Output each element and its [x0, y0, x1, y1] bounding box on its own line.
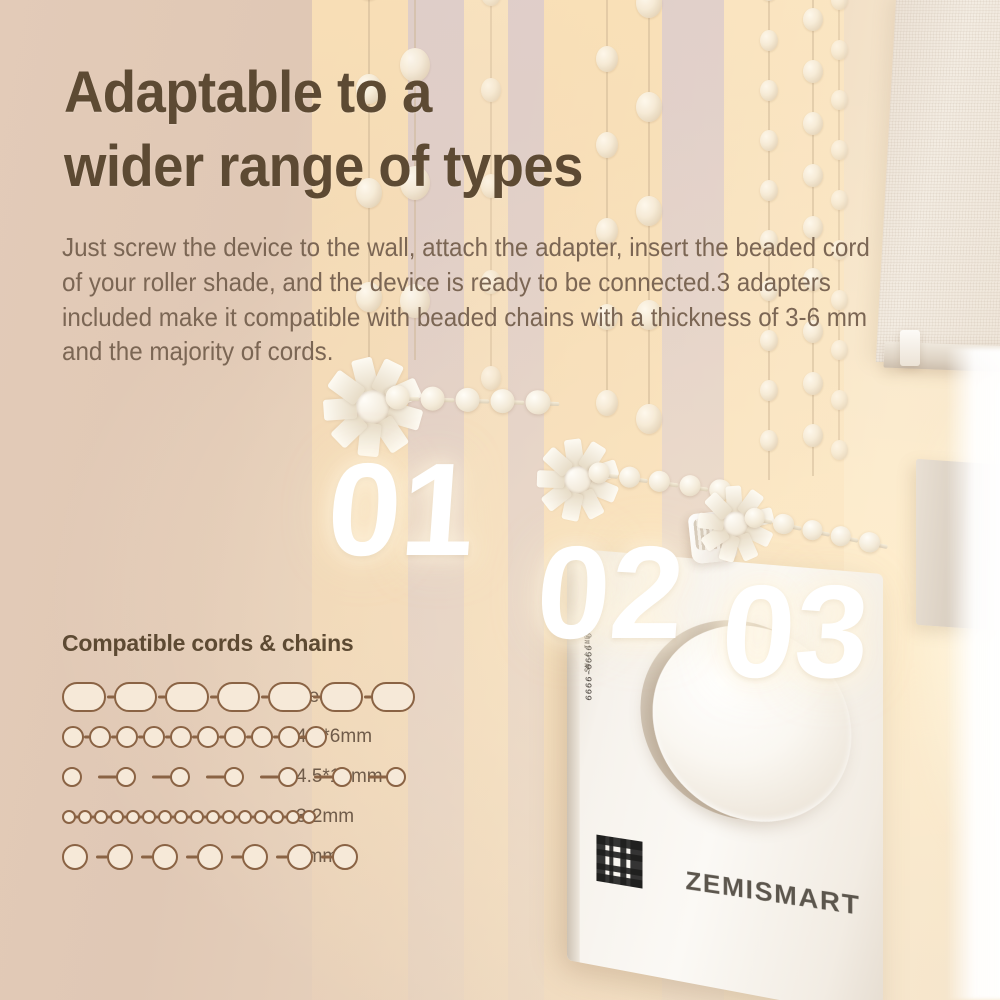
- chain-glyph-6mm: [62, 837, 288, 877]
- chain-bead: [174, 810, 188, 824]
- chain-bead: [158, 810, 172, 824]
- strand-bead: [636, 92, 662, 122]
- compatible-cords-title: Compatible cords & chains: [62, 630, 462, 657]
- chain-bead: [170, 767, 190, 787]
- strand-bead: [803, 164, 823, 187]
- strand-bead: [831, 40, 848, 60]
- chain-type-row: 3.2mm: [62, 797, 462, 837]
- product-marketing-image: 6666-6666-6666 SN / IMEI ZEMISMART Adapt…: [0, 0, 1000, 1000]
- page-title: Adaptable to a wider range of types: [64, 56, 583, 204]
- chain-bead: [89, 726, 111, 748]
- strand-bead: [760, 180, 778, 201]
- strand-bead: [831, 190, 848, 210]
- chain-bead: [94, 810, 108, 824]
- chain-bead: [62, 810, 76, 824]
- chain-glyph-4-5-6mm: [62, 717, 288, 757]
- chain-bead: [78, 810, 92, 824]
- chain-bead: [305, 726, 327, 748]
- chain-bead: [116, 767, 136, 787]
- chain-bead: [278, 767, 298, 787]
- step-number-01: 01: [323, 444, 479, 576]
- chain-bead: [62, 844, 88, 870]
- strand-bead: [803, 8, 823, 31]
- chain-bead: [62, 726, 84, 748]
- chain-bead: [254, 810, 268, 824]
- chain-bead: [107, 844, 133, 870]
- chain-bead: [110, 810, 124, 824]
- strand-bead: [803, 372, 823, 395]
- strand-bead: [636, 0, 662, 18]
- chain-link: [206, 776, 225, 779]
- step-number-03: 03: [717, 566, 873, 698]
- chain-bead: [332, 767, 352, 787]
- chain-glyph-beaded: [62, 677, 288, 717]
- chain-bead: [302, 810, 316, 824]
- chain-bead: [190, 810, 204, 824]
- chain-bead: [251, 726, 273, 748]
- chain-bead: [386, 767, 406, 787]
- chain-bead: [170, 726, 192, 748]
- chain-bead: [62, 682, 106, 712]
- strand-bead: [481, 366, 501, 390]
- strand-bead: [636, 196, 662, 226]
- strand-bead: [760, 80, 778, 101]
- chain-bead: [242, 844, 268, 870]
- strand-bead: [803, 424, 823, 447]
- chain-bead: [116, 726, 138, 748]
- chain-bead: [371, 682, 415, 712]
- compatible-cords-section: Compatible cords & chains Beaded4.5*6mm4…: [62, 630, 462, 877]
- chain-bead: [268, 682, 312, 712]
- chain-bead: [278, 726, 300, 748]
- chain-bead: [238, 810, 252, 824]
- chain-glyph-4-5-12mm: [62, 757, 288, 797]
- strand-bead: [831, 90, 848, 110]
- strand-bead: [760, 380, 778, 401]
- chain-bead: [224, 726, 246, 748]
- strand-bead: [803, 60, 823, 83]
- chain-bead: [197, 726, 219, 748]
- strand-bead: [760, 430, 778, 451]
- chain-bead: [222, 810, 236, 824]
- strand-bead: [481, 0, 501, 6]
- chain-bead: [143, 726, 165, 748]
- chain-adapter-03: [691, 479, 781, 569]
- compatible-cords-list: Beaded4.5*6mm4.5*12mm3.2mm6mm: [62, 677, 462, 877]
- chain-bead: [206, 810, 220, 824]
- chain-bead: [197, 844, 223, 870]
- step-number-02: 02: [532, 527, 688, 659]
- chain-bead: [152, 844, 178, 870]
- chain-bead: [286, 810, 300, 824]
- strand-bead: [596, 390, 618, 416]
- chain-bead: [126, 810, 140, 824]
- qr-code: [596, 835, 642, 889]
- strand-bead: [760, 130, 778, 151]
- chain-bead: [142, 810, 156, 824]
- chain-bead: [165, 682, 209, 712]
- chain-bead: [270, 810, 284, 824]
- strand-bead: [636, 404, 662, 434]
- chain-bead: [224, 767, 244, 787]
- brand-logo: ZEMISMART: [685, 866, 860, 922]
- chain-bead: [320, 682, 364, 712]
- strand-bead: [760, 30, 778, 51]
- chain-type-row: 4.5*12mm: [62, 757, 462, 797]
- strand-bead: [831, 0, 848, 10]
- chain-type-row: Beaded: [62, 677, 462, 717]
- description-paragraph: Just screw the device to the wall, attac…: [62, 230, 871, 369]
- chain-bead: [217, 682, 261, 712]
- chain-bead: [62, 767, 82, 787]
- chain-link: [368, 776, 387, 779]
- strand-bead: [596, 132, 618, 158]
- chain-type-row: 4.5*6mm: [62, 717, 462, 757]
- chain-type-row: 6mm: [62, 837, 462, 877]
- chain-bead: [287, 844, 313, 870]
- strand-bead: [760, 0, 778, 1]
- chain-link: [314, 776, 333, 779]
- chain-bead: [332, 844, 358, 870]
- chain-glyph-3-2mm: [62, 797, 288, 837]
- chain-link: [260, 776, 279, 779]
- strand-bead: [803, 112, 823, 135]
- chain-bead: [114, 682, 158, 712]
- strand-bead: [831, 140, 848, 160]
- strand-bead: [596, 46, 618, 72]
- chain-link: [152, 776, 171, 779]
- chain-link: [98, 776, 117, 779]
- chain-adapter-02: [526, 428, 629, 531]
- light-column: [946, 348, 1000, 1000]
